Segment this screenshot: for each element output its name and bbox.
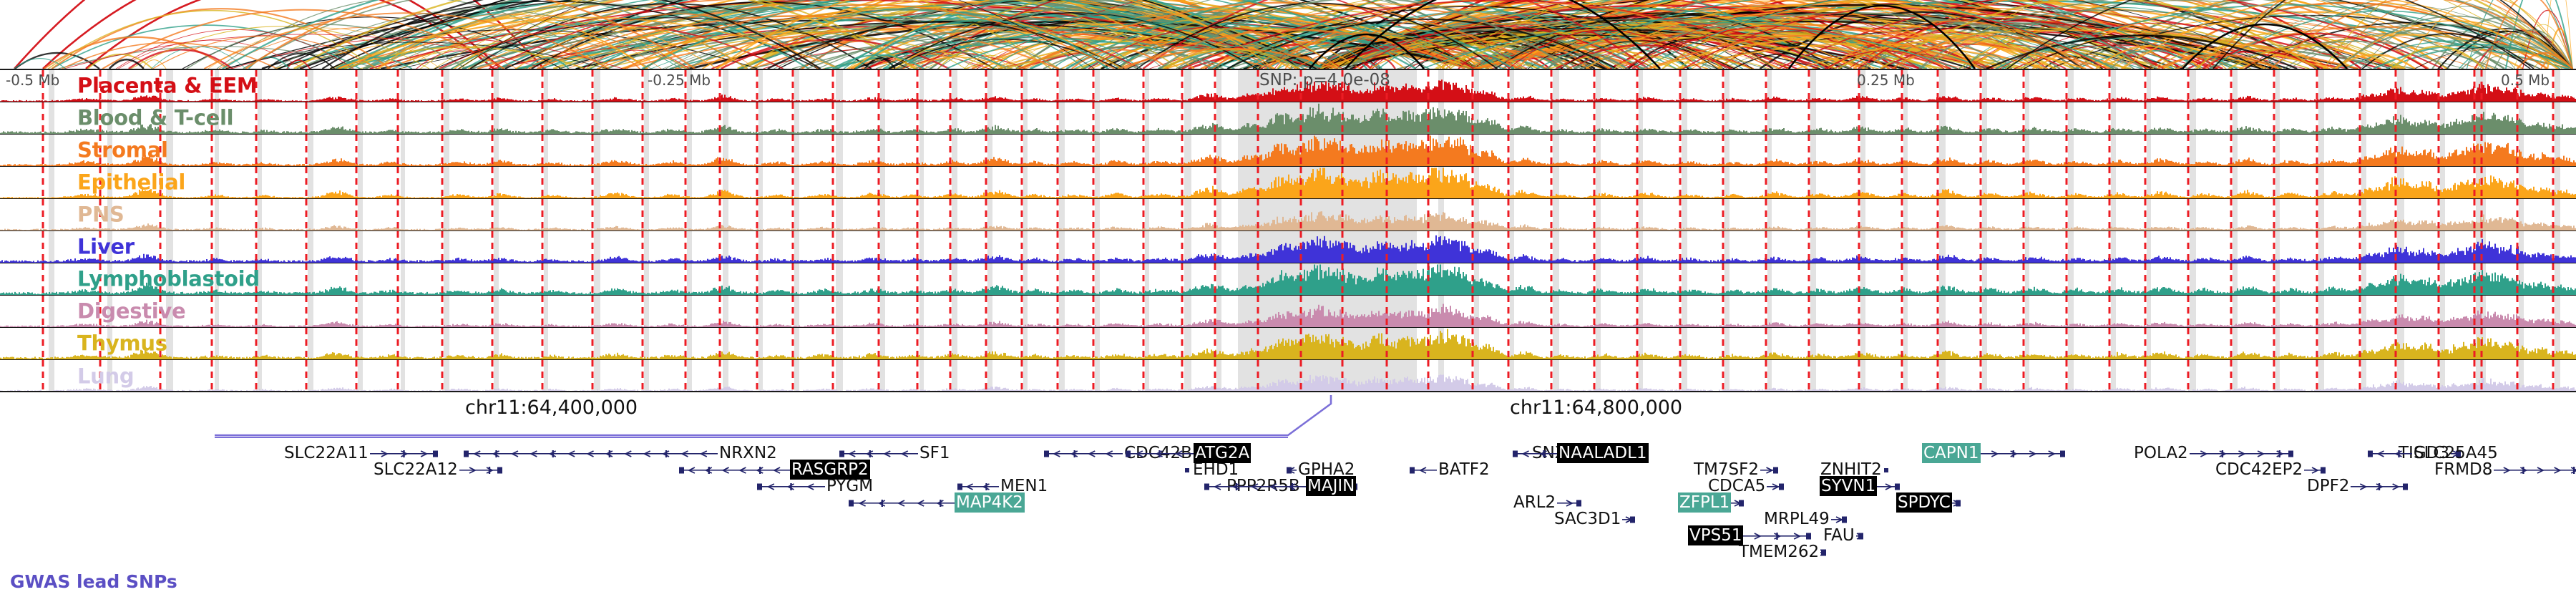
gene-nrxn2[interactable]: NRXN2 xyxy=(464,445,779,462)
track-signal-stromal xyxy=(0,135,2576,167)
track-lung[interactable]: Lung xyxy=(0,360,2576,392)
track-signal-liver xyxy=(0,231,2576,263)
gene-label-vps51: VPS51 xyxy=(1688,525,1743,545)
axis-tick-1: -0.25 Mb xyxy=(648,72,711,89)
gene-syvn1[interactable]: SYVN1 xyxy=(1820,478,1900,495)
gene-label-batf2: BATF2 xyxy=(1437,460,1491,480)
track-signal-digestive xyxy=(0,296,2576,328)
gene-model-sf1 xyxy=(839,444,918,462)
gene-atg2a[interactable]: ATG2A xyxy=(1126,445,1251,462)
gene-label-dpf2: DPF2 xyxy=(2306,476,2351,496)
axis-tick-3: 0.5 Mb xyxy=(2501,72,2550,89)
gene-model-batf2 xyxy=(1410,460,1437,479)
gene-pygm[interactable]: PYGM xyxy=(757,478,874,495)
gene-sf1[interactable]: SF1 xyxy=(839,445,951,462)
gene-model-naaladl1 xyxy=(1513,444,1557,462)
gene-model-spdyc xyxy=(1952,493,1961,512)
gene-spdyc[interactable]: SPDYC xyxy=(1896,495,1961,511)
gene-label-fau: FAU xyxy=(1822,525,1856,545)
gwas-lead-snps-label: GWAS lead SNPs xyxy=(10,571,177,592)
axis-tick-2: 0.25 Mb xyxy=(1857,72,1915,89)
gene-map4k2[interactable]: MAP4K2 xyxy=(849,495,1025,511)
track-signal-lung xyxy=(0,360,2576,392)
gene-slc25a45[interactable]: SLC25A45 xyxy=(2368,445,2499,462)
gene-model-frmd8 xyxy=(2494,460,2576,479)
gene-zfpl1[interactable]: ZFPL1 xyxy=(1678,495,1744,511)
gene-model-tmem262 xyxy=(1820,543,1826,561)
gene-model-atg2a xyxy=(1126,444,1194,462)
gene-label-atg2a: ATG2A xyxy=(1194,443,1251,463)
gene-label-tmem262: TMEM262 xyxy=(1737,542,1820,562)
genomic-coordinate-label-0: chr11:64,400,000 xyxy=(465,397,638,419)
gene-label-arl2: ARL2 xyxy=(1512,492,1557,513)
gene-label-pola2: POLA2 xyxy=(2132,443,2190,463)
gene-model-dpf2 xyxy=(2351,477,2408,495)
gene-label-naaladl1: NAALADL1 xyxy=(1557,443,1649,463)
track-stromal[interactable]: Stromal xyxy=(0,135,2576,167)
gene-label-map4k2: MAP4K2 xyxy=(955,492,1025,513)
track-blood-tcell[interactable]: Blood & T-cell xyxy=(0,102,2576,135)
track-signal-pns xyxy=(0,199,2576,231)
gene-label-cdc42ep2: CDC42EP2 xyxy=(2214,460,2304,480)
axis-tick-0: -0.5 Mb xyxy=(6,72,59,89)
gene-model-pygm xyxy=(757,477,825,495)
gene-batf2[interactable]: BATF2 xyxy=(1410,462,1491,478)
gene-frmd8[interactable]: FRMD8 xyxy=(2433,462,2576,478)
gene-annotation-panel[interactable]: chr11:64,400,000chr11:64,800,000 GWAS le… xyxy=(0,392,2576,537)
track-signal-epithelial xyxy=(0,167,2576,199)
track-liver[interactable]: Liver xyxy=(0,231,2576,263)
gene-slc22a12[interactable]: SLC22A12 xyxy=(372,462,502,478)
gene-majin[interactable]: MAJIN xyxy=(1204,478,1356,495)
gene-model-cdc42bpg xyxy=(1044,444,1123,462)
gene-model-ehd1 xyxy=(1184,460,1191,479)
snp-pvalue-annotation: SNP: p=4.0e-08 xyxy=(1259,71,1390,89)
gene-label-spdyc: SPDYC xyxy=(1896,492,1952,513)
chromatin-interaction-arc-panel xyxy=(0,0,2576,69)
track-pns[interactable]: PNS xyxy=(0,199,2576,231)
signal-track-panel[interactable]: -0.5 Mb-0.25 Mb0.25 Mb0.5 MbSNP: p=4.0e-… xyxy=(0,69,2576,392)
track-signal-lymphoblastoid xyxy=(0,263,2576,296)
track-lymphoblastoid[interactable]: Lymphoblastoid xyxy=(0,263,2576,296)
gene-model-majin xyxy=(1204,477,1306,495)
gene-model-slc25a45 xyxy=(2368,444,2412,462)
gene-label-slc25a45: SLC25A45 xyxy=(2412,443,2499,463)
gene-label-sf1: SF1 xyxy=(918,443,951,463)
gene-model-fau xyxy=(1856,526,1863,545)
gene-sac3d1[interactable]: SAC3D1 xyxy=(1553,511,1635,528)
gene-label-syvn1: SYVN1 xyxy=(1820,476,1877,496)
gene-label-capn1: CAPN1 xyxy=(1922,443,1981,463)
arc-svg xyxy=(0,0,2576,69)
gene-naaladl1[interactable]: NAALADL1 xyxy=(1513,445,1649,462)
gene-label-slc22a12: SLC22A12 xyxy=(372,460,459,480)
gene-fau[interactable]: FAU xyxy=(1822,528,1863,544)
gene-model-zfpl1 xyxy=(1731,493,1744,512)
gene-label-slc22a11: SLC22A11 xyxy=(283,443,370,463)
genomic-coordinate-label-1: chr11:64,800,000 xyxy=(1510,397,1682,419)
gene-label-majin: MAJIN xyxy=(1306,476,1356,496)
gene-model-capn1 xyxy=(1981,444,2065,462)
gene-label-zfpl1: ZFPL1 xyxy=(1678,492,1731,513)
gene-model-cdca5 xyxy=(1767,477,1784,495)
track-signal-thymus xyxy=(0,328,2576,360)
gene-capn1[interactable]: CAPN1 xyxy=(1922,445,2065,462)
gene-label-sac3d1: SAC3D1 xyxy=(1553,509,1622,529)
gene-model-map4k2 xyxy=(849,493,955,512)
gene-dpf2[interactable]: DPF2 xyxy=(2306,478,2408,495)
track-thymus[interactable]: Thymus xyxy=(0,328,2576,360)
gene-tmem262[interactable]: TMEM262 xyxy=(1737,544,1826,561)
track-epithelial[interactable]: Epithelial xyxy=(0,167,2576,199)
gene-model-slc22a12 xyxy=(459,460,502,479)
track-signal-blood-tcell xyxy=(0,102,2576,135)
track-digestive[interactable]: Digestive xyxy=(0,296,2576,328)
gene-model-sac3d1 xyxy=(1622,510,1635,528)
